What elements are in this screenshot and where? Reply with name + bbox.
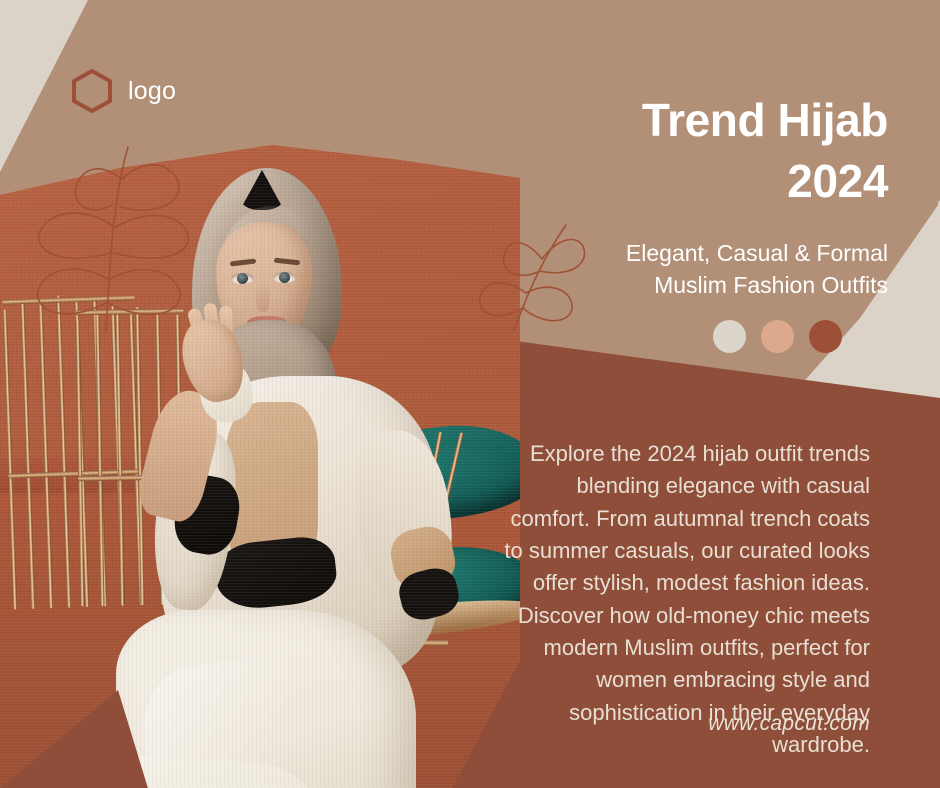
subtitle-line-2: Muslim Fashion Outfits	[520, 270, 888, 302]
website-url[interactable]: www.capcut.com	[500, 712, 870, 736]
subtitle: Elegant, Casual & Formal Muslim Fashion …	[520, 238, 888, 301]
page-title: Trend Hijab 2024	[510, 90, 888, 211]
hexagon-outline-icon	[70, 68, 114, 114]
poster-canvas: logo Trend Hijab 2024 Elegant, Casual & …	[0, 0, 940, 788]
swatch-dot-2[interactable]	[761, 320, 794, 353]
headline-line-1: Trend Hijab	[510, 90, 888, 151]
swatch-dot-3[interactable]	[809, 320, 842, 353]
subtitle-line-1: Elegant, Casual & Formal	[520, 238, 888, 270]
brand-logo[interactable]: logo	[70, 68, 176, 114]
logo-text: logo	[128, 77, 176, 106]
color-swatch-group	[713, 320, 842, 353]
headline-line-2: 2024	[510, 151, 888, 212]
swatch-dot-1[interactable]	[713, 320, 746, 353]
